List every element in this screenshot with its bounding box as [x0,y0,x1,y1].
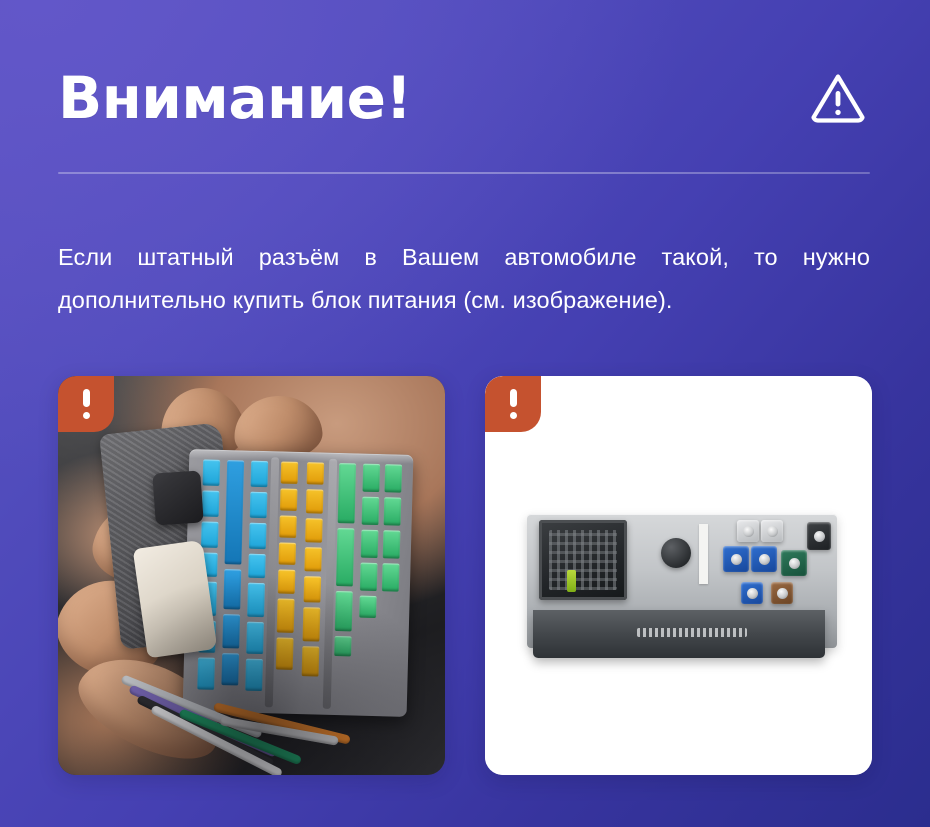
fakra-connector-blue-3 [741,582,763,604]
fakra-connector-blue-2 [751,546,777,572]
warning-triangle-icon [806,66,870,130]
page-title: Внимание! [58,68,411,129]
exclamation-mark-icon [83,389,90,419]
image-card-row [58,376,872,775]
product-label-strip [699,524,708,584]
wire-bundle [116,658,416,775]
exclamation-badge-right [485,376,541,432]
power-supply-module [527,514,837,648]
card-power-supply-photo[interactable] [485,376,872,775]
exclamation-badge-left [58,376,114,432]
exclamation-mark-icon [510,389,517,419]
round-port [661,538,691,568]
fakra-connector-blue-1 [723,546,749,572]
fakra-connector-brown [771,582,793,604]
green-lock-tab [567,570,576,592]
banner-header: Внимание! [58,52,872,144]
black-multipin-connector [539,520,627,600]
fakra-connector-white-1 [737,520,759,542]
warning-banner: Внимание! Если штатный разъём в Вашем ав… [0,0,930,827]
card-car-connector-photo[interactable] [58,376,445,775]
banner-body-text: Если штатный разъём в Вашем автомобиле т… [58,236,870,322]
power-supply-artwork [485,376,872,775]
connector-photo-artwork [58,376,445,775]
fakra-connector-dark [807,522,831,550]
fakra-connector-green [781,550,807,576]
fakra-connector-white-2 [761,520,783,542]
white-secondary-lock [133,540,218,659]
module-base-bracket [533,610,825,658]
body-text-line-1: Если штатный разъём в Вашем автомобиле т… [58,236,870,279]
connector-latch [152,470,204,525]
header-divider [58,172,870,174]
body-text-line-2: дополнительно купить блок питания (см. и… [58,279,870,322]
